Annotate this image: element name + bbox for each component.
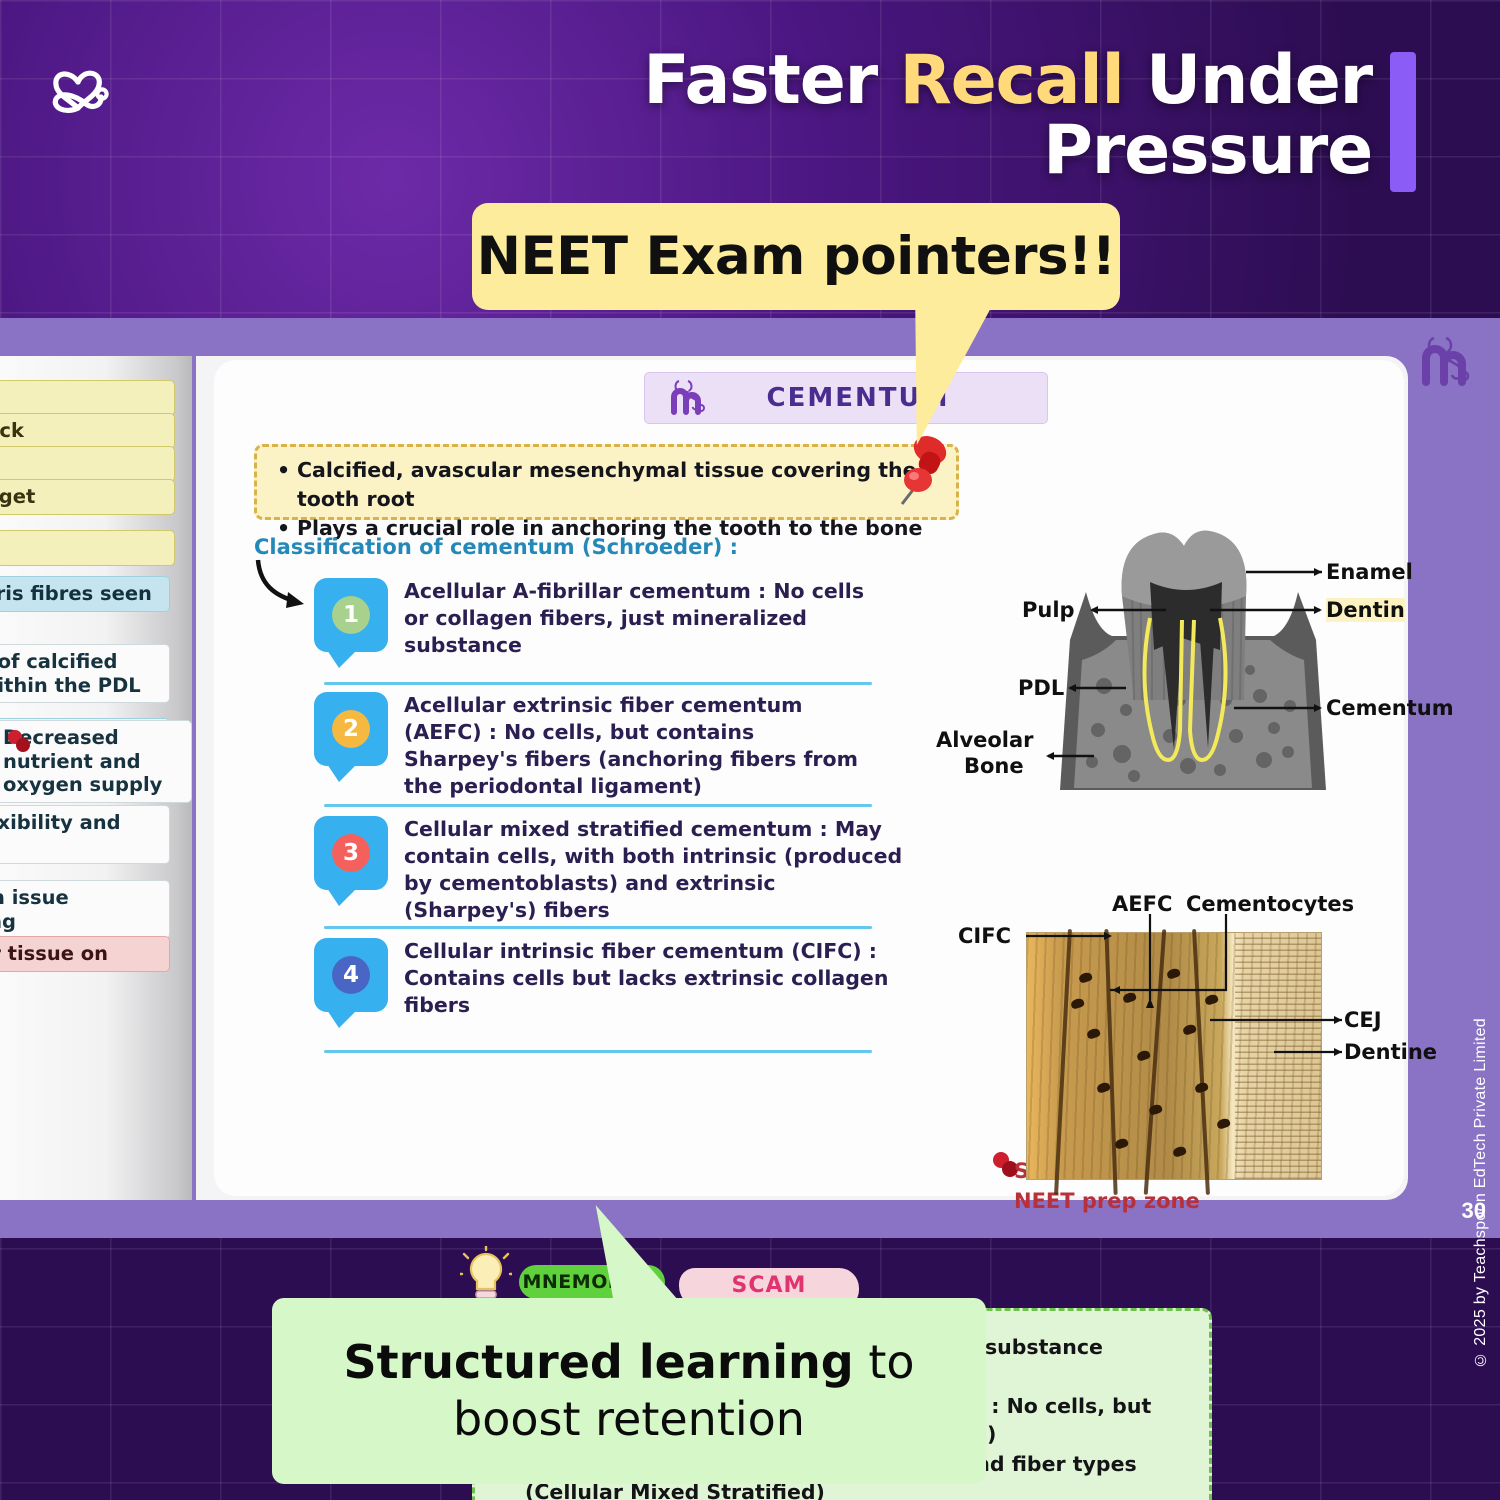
page-title: Faster Recall Under Pressure	[612, 46, 1372, 186]
pin-icon	[6, 728, 32, 754]
curved-arrow-icon	[252, 556, 322, 618]
label-alveolar-bone-line2: Bone	[964, 754, 1024, 778]
title-part-1: Faster	[643, 41, 899, 120]
title-accent-bar	[1390, 52, 1416, 192]
page-number: 30	[1462, 1198, 1486, 1224]
neet-pointers-callout: NEET Exam pointers!!	[472, 203, 1120, 310]
title-line-2: Pressure	[1043, 111, 1372, 190]
item-text: Cellular intrinsic fiber cementum (CIFC)…	[404, 938, 904, 1019]
label-cementocytes: Cementocytes	[1186, 892, 1354, 916]
m-stethoscope-icon	[667, 377, 711, 419]
note-item: educed lexibility and lasticity	[0, 805, 170, 864]
section-title: CEMENTUM	[711, 383, 1047, 413]
note-item: r content get	[0, 479, 175, 515]
item-text: Cellular mixed stratified cementum : May…	[404, 816, 904, 924]
label-pulp: Pulp	[1022, 598, 1075, 622]
item-text: Acellular A-fibrillar cementum : No cell…	[404, 578, 874, 659]
item-number: 4	[332, 956, 370, 994]
heart-stethoscope-logo	[44, 52, 118, 118]
item-number: 1	[332, 596, 370, 634]
previous-page-notes: egular ecome thick ial space r content g…	[0, 318, 192, 1162]
label-dentine: Dentine	[1344, 1040, 1437, 1064]
section-title-pill: CEMENTUM	[644, 372, 1048, 424]
item-number: 2	[332, 710, 370, 748]
note-item: llular debris fibres seen	[0, 576, 170, 612]
label-alveolar-bone-line1: Alveolar	[936, 728, 1034, 752]
note-item: f growth r tissue on	[0, 936, 170, 972]
tooth-cross-section	[974, 500, 1394, 830]
item-divider	[324, 682, 872, 685]
note-item: egular	[0, 380, 175, 416]
note-item: ecome thick	[0, 413, 175, 449]
structured-learning-callout: Structured learning to boost retention	[272, 1298, 986, 1484]
label-cej: CEJ	[1344, 1008, 1382, 1032]
item-text: Acellular extrinsic fiber cementum (AEFC…	[404, 692, 874, 800]
callout-line-1: Structured learning to	[343, 1334, 914, 1392]
intro-box: Calcified, avascular mesenchymal tissue …	[254, 444, 959, 520]
item-number-badge: 2	[314, 692, 388, 766]
copyright-text: © 2025 by Teachspoon EdTech Private Limi…	[1472, 1018, 1490, 1368]
page-content: CEMENTUM Calcified, avascular mesenchyma…	[214, 360, 1404, 1196]
label-dentin: Dentin	[1326, 598, 1405, 622]
item-number-badge: 3	[314, 816, 388, 890]
histology-leader-lines	[974, 880, 1404, 1200]
title-highlight: Recall	[899, 41, 1123, 120]
item-number-badge: 1	[314, 578, 388, 652]
note-item: nvolved in issue remodeling	[0, 880, 170, 939]
note-item: ial space	[0, 446, 175, 482]
mnemonic-word: SCAM	[679, 1273, 859, 1298]
item-divider	[324, 804, 872, 807]
neet-pointers-text: NEET Exam pointers!!	[477, 226, 1116, 287]
label-enamel: Enamel	[1326, 560, 1413, 584]
item-divider	[324, 1050, 872, 1053]
intro-bullet: Calcified, avascular mesenchymal tissue …	[275, 456, 938, 514]
callout-rest-text: to	[854, 1335, 915, 1389]
item-divider	[324, 926, 872, 929]
cementum-histology-diagram: AEFC Cementocytes CIFC CEJ Dentine	[974, 880, 1404, 1200]
tooth-anatomy-diagram: Enamel Dentin Cementum Pulp PDL Alveolar…	[974, 500, 1394, 830]
item-number-badge: 4	[314, 938, 388, 1012]
title-part-2: Under	[1124, 41, 1372, 120]
note-item: c fibres	[0, 530, 175, 566]
label-cifc: CIFC	[958, 924, 1011, 948]
label-aefc: AEFC	[1112, 892, 1172, 916]
note-item: ormation of calcified masses within the …	[0, 644, 170, 703]
callout-bold-text: Structured learning	[343, 1335, 853, 1389]
callout-line-2: boost retention	[453, 1391, 805, 1449]
item-number: 3	[332, 834, 370, 872]
m-stethoscope-logo	[1416, 332, 1478, 394]
book-spread: © 2025 by Teachspoon EdTech Private Limi…	[0, 318, 1500, 1238]
classification-heading: Classification of cementum (Schroeder) :	[254, 535, 738, 559]
label-cementum: Cementum	[1326, 696, 1454, 720]
label-pdl: PDL	[1018, 676, 1064, 700]
